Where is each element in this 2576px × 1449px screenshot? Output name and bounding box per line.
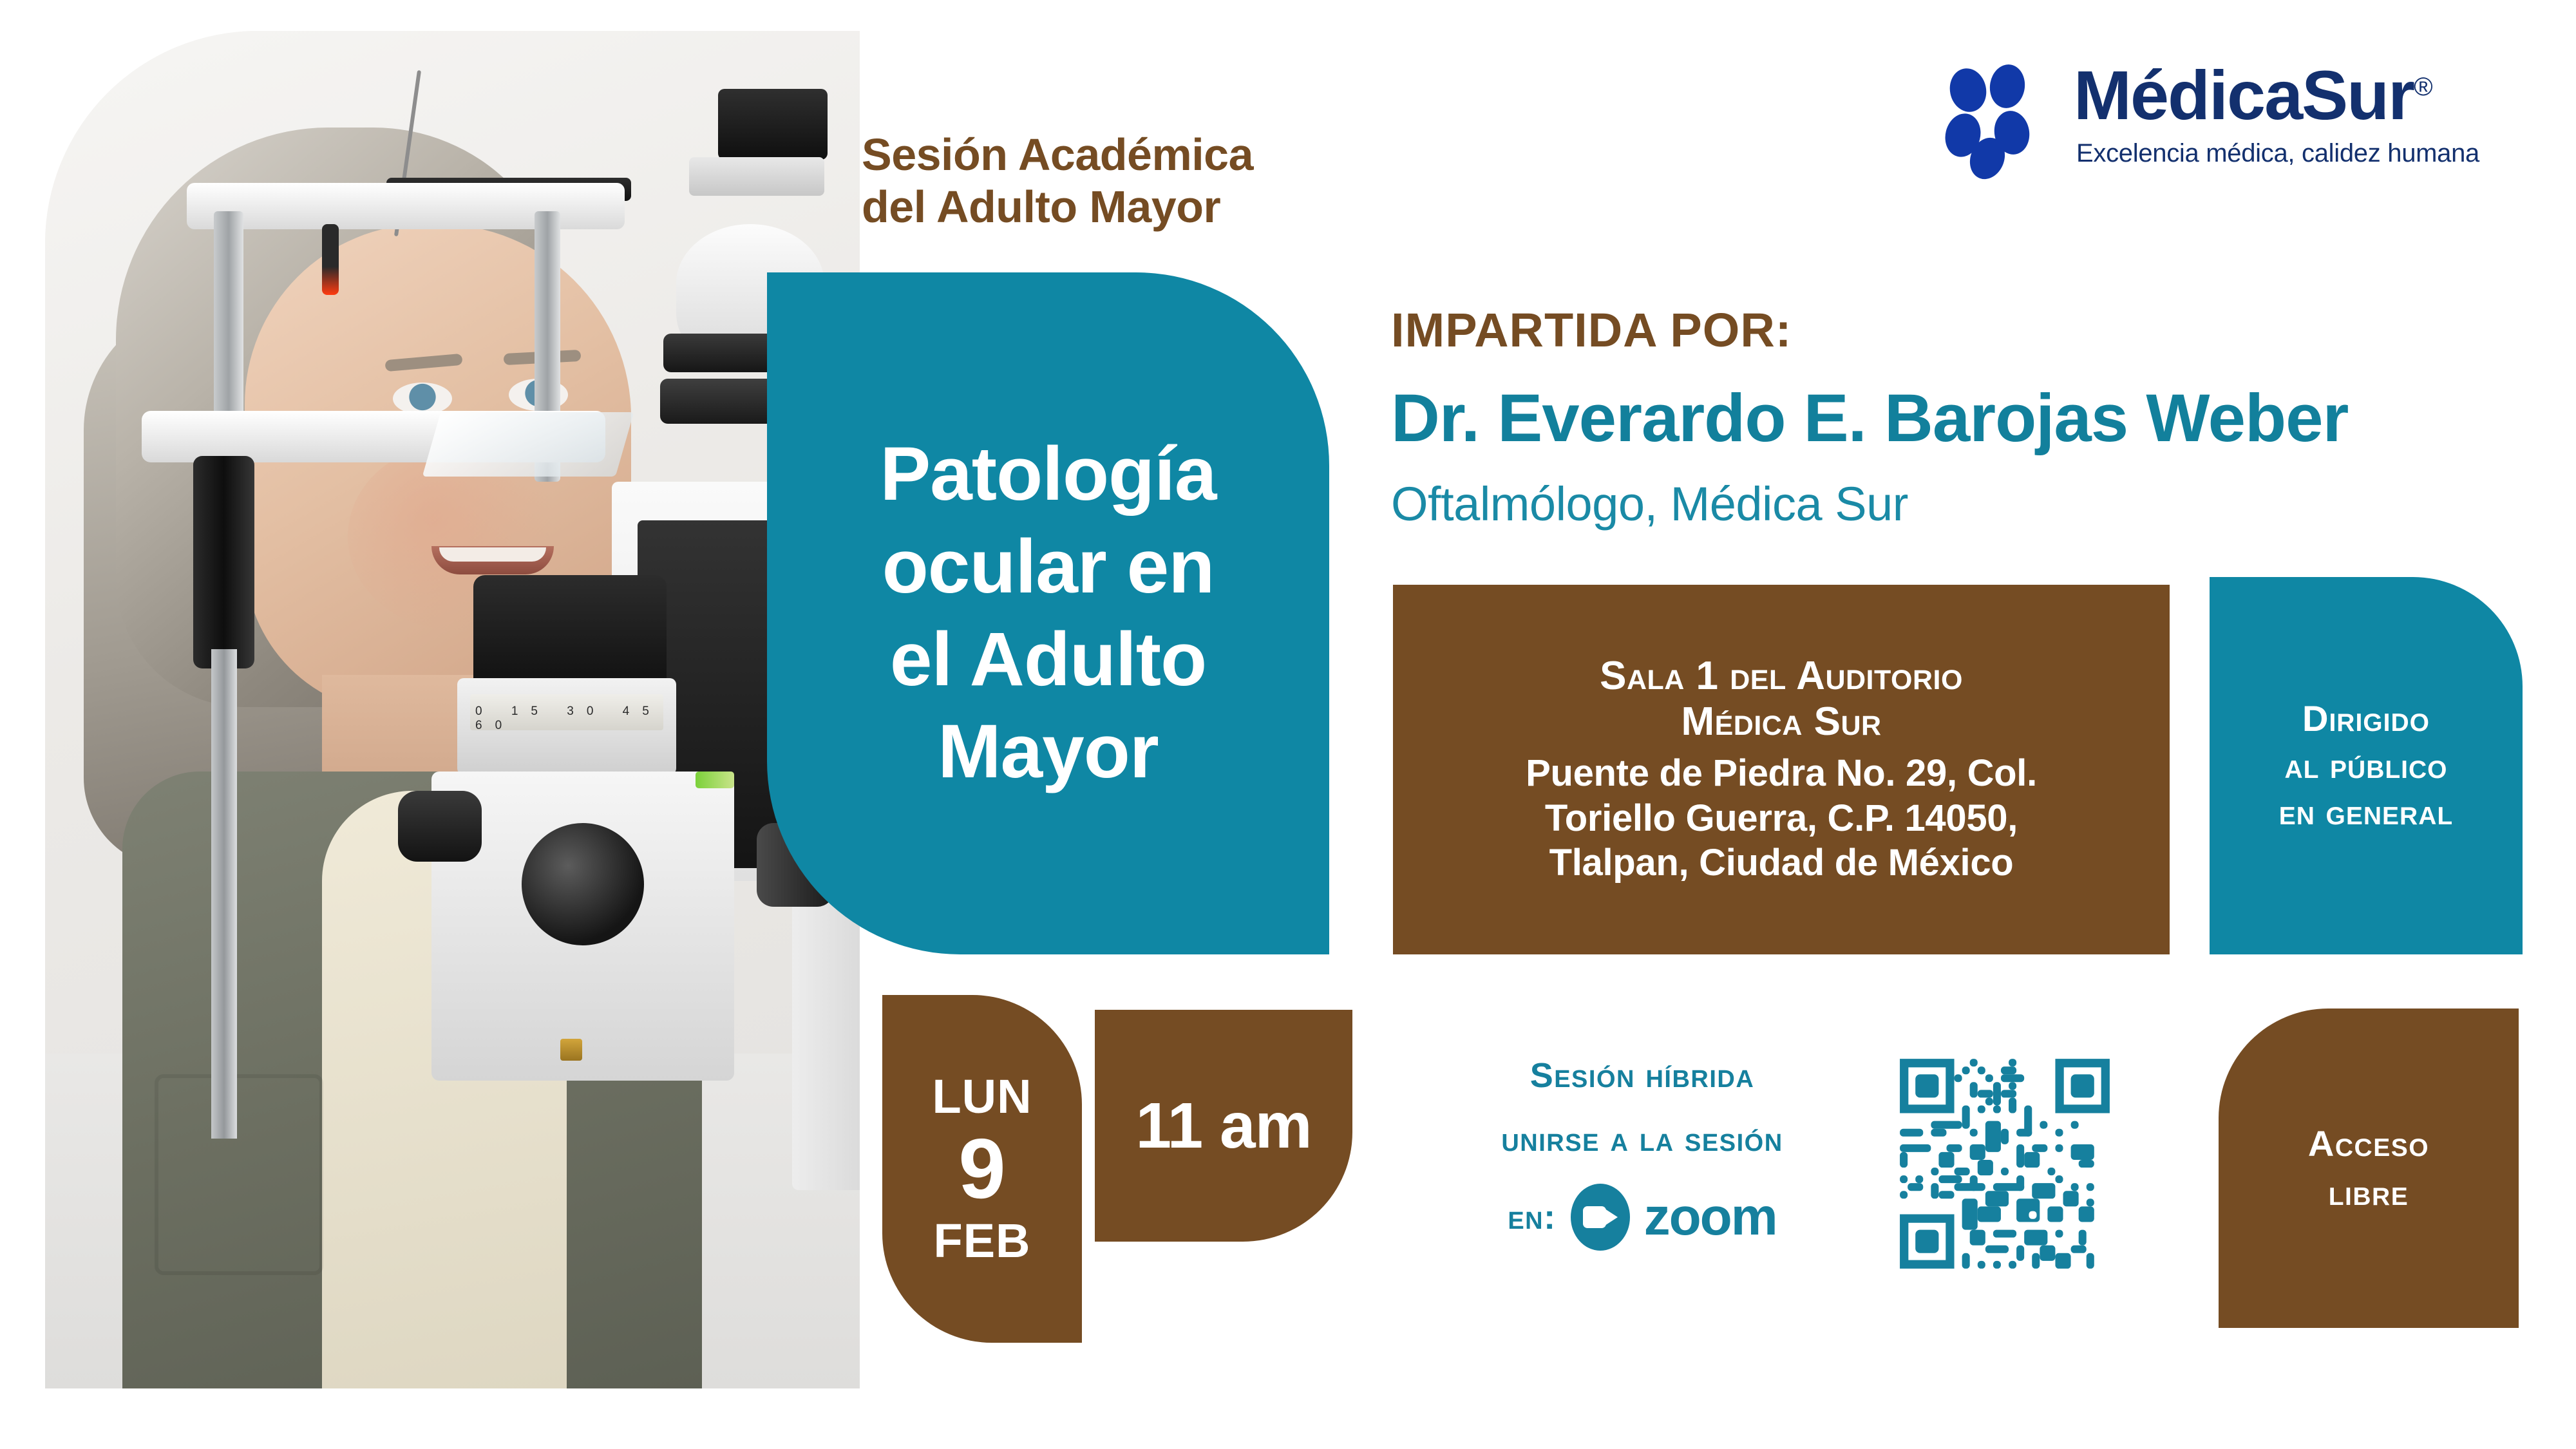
slit-lamp-red-indicator xyxy=(322,224,339,295)
slit-lamp-gold-screw xyxy=(560,1039,582,1061)
hybrid-session-info: Sesión híbrida unirse a la sesión en: zo… xyxy=(1423,1050,1861,1251)
access-line-2: libre xyxy=(2308,1168,2429,1217)
photo-pocket xyxy=(155,1074,323,1275)
title-line-4: Mayor xyxy=(880,706,1216,799)
date-box: LUN 9 FEB xyxy=(882,995,1082,1343)
slit-lamp-led xyxy=(696,772,734,788)
audience-text: Dirigido al público en general xyxy=(2279,696,2453,836)
zoom-camera-icon xyxy=(1571,1184,1630,1251)
date-day-number: 9 xyxy=(958,1124,1005,1214)
audience-line-1: Dirigido xyxy=(2279,696,2453,743)
poster-canvas: 0 15 30 45 60 Sesión Académica del Adult… xyxy=(0,0,2576,1449)
access-line-1: Acceso xyxy=(2308,1119,2429,1168)
slit-lamp-black-cylinder xyxy=(193,456,254,668)
session-title: Patología ocular en el Adulto Mayor xyxy=(844,428,1252,799)
slit-lamp-glass-plate xyxy=(422,412,634,477)
access-box: Acceso libre xyxy=(2219,1009,2519,1328)
zoom-camera-glyph xyxy=(1583,1206,1618,1228)
logo-wordmark-text: MédicaSur xyxy=(2074,56,2414,134)
speaker-role: Oftalmólogo, Médica Sur xyxy=(1391,477,1908,531)
logo-registered-mark: ® xyxy=(2414,73,2431,101)
venue-room: Sala 1 del Auditorio xyxy=(1600,654,1963,699)
medica-sur-petals-icon xyxy=(1945,61,2054,180)
photo-eye-left xyxy=(393,383,452,415)
slit-lamp-drum xyxy=(473,575,667,691)
time-value: 11 am xyxy=(1135,1089,1311,1163)
title-line-2: ocular en xyxy=(880,521,1216,614)
kicker-line-1: Sesión Académica xyxy=(862,129,1403,181)
hybrid-line-1: Sesión híbrida xyxy=(1423,1050,1861,1102)
zoom-row: en: zoom xyxy=(1423,1184,1861,1251)
slit-lamp-scale-ticks: 0 15 30 45 60 xyxy=(475,705,662,733)
title-line-3: el Adulto xyxy=(880,614,1216,706)
hybrid-line-2: unirse a la sesión xyxy=(1423,1113,1861,1166)
date-month: FEB xyxy=(934,1217,1031,1265)
slit-lamp-top-block xyxy=(718,89,828,160)
access-text: Acceso libre xyxy=(2308,1119,2429,1217)
audience-line-2: al público xyxy=(2279,743,2453,790)
event-kicker: Sesión Académica del Adulto Mayor xyxy=(862,129,1403,232)
slit-lamp-stem xyxy=(211,649,237,1139)
title-line-1: Patología xyxy=(880,428,1216,521)
time-box: 11 am xyxy=(1095,1010,1352,1242)
imparted-by-label: IMPARTIDA POR: xyxy=(1391,303,1792,357)
slit-lamp-knob-main xyxy=(522,823,644,945)
speaker-name: Dr. Everardo E. Barojas Weber xyxy=(1391,380,2348,457)
logo-wordmark: MédicaSur® xyxy=(2074,61,2432,130)
slit-lamp-knob-side xyxy=(398,791,482,862)
hybrid-prefix: en: xyxy=(1508,1197,1556,1237)
audience-box: Dirigido al público en general xyxy=(2210,577,2523,954)
kicker-line-2: del Adulto Mayor xyxy=(862,181,1403,233)
venue-box: Sala 1 del Auditorio Médica Sur Puente d… xyxy=(1393,585,2170,954)
medica-sur-logo: MédicaSur® Excelencia médica, calidez hu… xyxy=(1945,57,2486,185)
venue-building: Médica Sur xyxy=(1681,699,1881,745)
audience-line-3: en general xyxy=(2279,789,2453,836)
logo-tagline: Excelencia médica, calidez humana xyxy=(2076,139,2479,168)
slit-lamp-top-plate xyxy=(689,157,824,196)
venue-street: Puente de Piedra No. 29, Col. xyxy=(1526,751,2037,796)
venue-neighborhood: Toriello Guerra, C.P. 14050, xyxy=(1545,796,2018,841)
qr-code-icon[interactable] xyxy=(1892,1051,2117,1276)
photo-teeth xyxy=(439,547,546,562)
session-title-block: Patología ocular en el Adulto Mayor xyxy=(767,272,1329,954)
zoom-wordmark: zoom xyxy=(1644,1191,1777,1244)
date-day-of-week: LUN xyxy=(932,1073,1032,1121)
venue-city: Tlalpan, Ciudad de México xyxy=(1549,840,2014,885)
patient-photo: 0 15 30 45 60 xyxy=(45,31,860,1388)
